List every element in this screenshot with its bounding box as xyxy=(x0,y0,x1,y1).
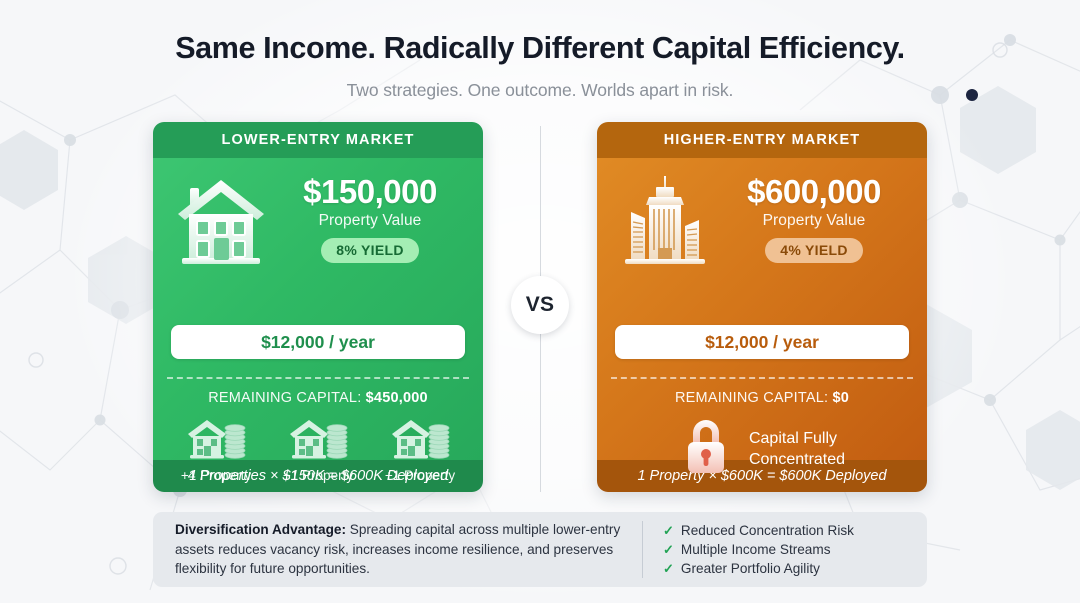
check-icon: ✓ xyxy=(663,523,674,539)
capital-locked-row: Capital Fully Concentrated xyxy=(597,416,927,483)
benefits-list: ✓ Reduced Concentration Risk ✓ Multiple … xyxy=(643,523,905,577)
hero-row-higher-entry: $600,000 Property Value 4% YIELD xyxy=(597,158,927,268)
list-item-label: Multiple Income Streams xyxy=(681,542,831,557)
list-item-label: Reduced Concentration Risk xyxy=(681,523,854,538)
yield-badge-higher-entry: 4% YIELD xyxy=(765,238,863,263)
list-item-label: +1 Property xyxy=(181,468,251,483)
diversification-advantage-text: Diversification Advantage: Spreading cap… xyxy=(175,520,642,580)
list-item: +1 Property xyxy=(168,416,264,483)
property-value-label-higher-entry: Property Value xyxy=(763,212,866,230)
card-dashed-separator xyxy=(611,377,913,379)
check-icon: ✓ xyxy=(663,561,674,577)
capital-locked-line-1: Capital Fully xyxy=(749,430,837,447)
hero-meta-lower-entry: $150,000 Property Value 8% YIELD xyxy=(275,175,465,265)
card-body-higher-entry: $600,000 Property Value 4% YIELD $12,000… xyxy=(597,158,927,460)
remaining-capital-lower-entry: REMAINING CAPITAL: $450,000 xyxy=(153,390,483,406)
list-item: ✓ Multiple Income Streams xyxy=(663,542,905,558)
remaining-capital-value: $450,000 xyxy=(366,390,428,406)
vs-badge: VS xyxy=(511,276,569,334)
hero-row-lower-entry: $150,000 Property Value 8% YIELD xyxy=(153,158,483,268)
remaining-capital-label: REMAINING CAPITAL: xyxy=(208,390,361,406)
list-item: ✓ Reduced Concentration Risk xyxy=(663,523,905,539)
page-title: Same Income. Radically Different Capital… xyxy=(0,31,1080,66)
card-dashed-separator xyxy=(167,377,469,379)
property-value-label-lower-entry: Property Value xyxy=(319,212,422,230)
page-subtitle: Two strategies. One outcome. Worlds apar… xyxy=(0,80,1080,101)
house-coins-icon xyxy=(389,416,451,465)
hero-meta-higher-entry: $600,000 Property Value 4% YIELD xyxy=(719,175,909,265)
property-value-lower-entry: $150,000 xyxy=(303,175,437,210)
remaining-capital-higher-entry: REMAINING CAPITAL: $0 xyxy=(597,390,927,406)
summary-lead: Diversification Advantage: xyxy=(175,522,346,537)
yield-badge-lower-entry: 8% YIELD xyxy=(321,238,419,263)
annual-income-higher-entry: $12,000 / year xyxy=(615,325,909,359)
house-coins-icon xyxy=(185,416,247,465)
annual-income-lower-entry: $12,000 / year xyxy=(171,325,465,359)
card-body-lower-entry: $150,000 Property Value 8% YIELD $12,000… xyxy=(153,158,483,460)
card-higher-entry-market: HIGHER-ENTRY MARKET xyxy=(597,122,927,492)
remaining-capital-value: $0 xyxy=(832,390,849,406)
house-coins-icon xyxy=(287,416,349,465)
capital-locked-text: Capital Fully Concentrated xyxy=(749,429,845,470)
check-icon: ✓ xyxy=(663,542,674,558)
infographic-stage: Same Income. Radically Different Capital… xyxy=(0,0,1080,603)
list-item: +1 Property xyxy=(372,416,468,483)
card-header-higher-entry: HIGHER-ENTRY MARKET xyxy=(597,122,927,158)
list-item-label: +1 Property xyxy=(385,468,455,483)
property-value-higher-entry: $600,000 xyxy=(747,175,881,210)
card-lower-entry-market: LOWER-ENTRY MARKET xyxy=(153,122,483,492)
card-header-lower-entry: LOWER-ENTRY MARKET xyxy=(153,122,483,158)
summary-bar: Diversification Advantage: Spreading cap… xyxy=(153,512,927,587)
remaining-capital-label: REMAINING CAPITAL: xyxy=(675,390,828,406)
lock-icon xyxy=(679,416,733,483)
list-item-label: Greater Portfolio Agility xyxy=(681,561,820,576)
extra-properties-row: +1 Property xyxy=(153,416,483,483)
list-item: +1 Property xyxy=(270,416,366,483)
list-item-label: +1 Property xyxy=(283,468,353,483)
skyscraper-icon xyxy=(611,172,719,268)
house-icon xyxy=(167,172,275,268)
capital-locked-line-2: Concentrated xyxy=(749,451,845,468)
list-item: ✓ Greater Portfolio Agility xyxy=(663,561,905,577)
